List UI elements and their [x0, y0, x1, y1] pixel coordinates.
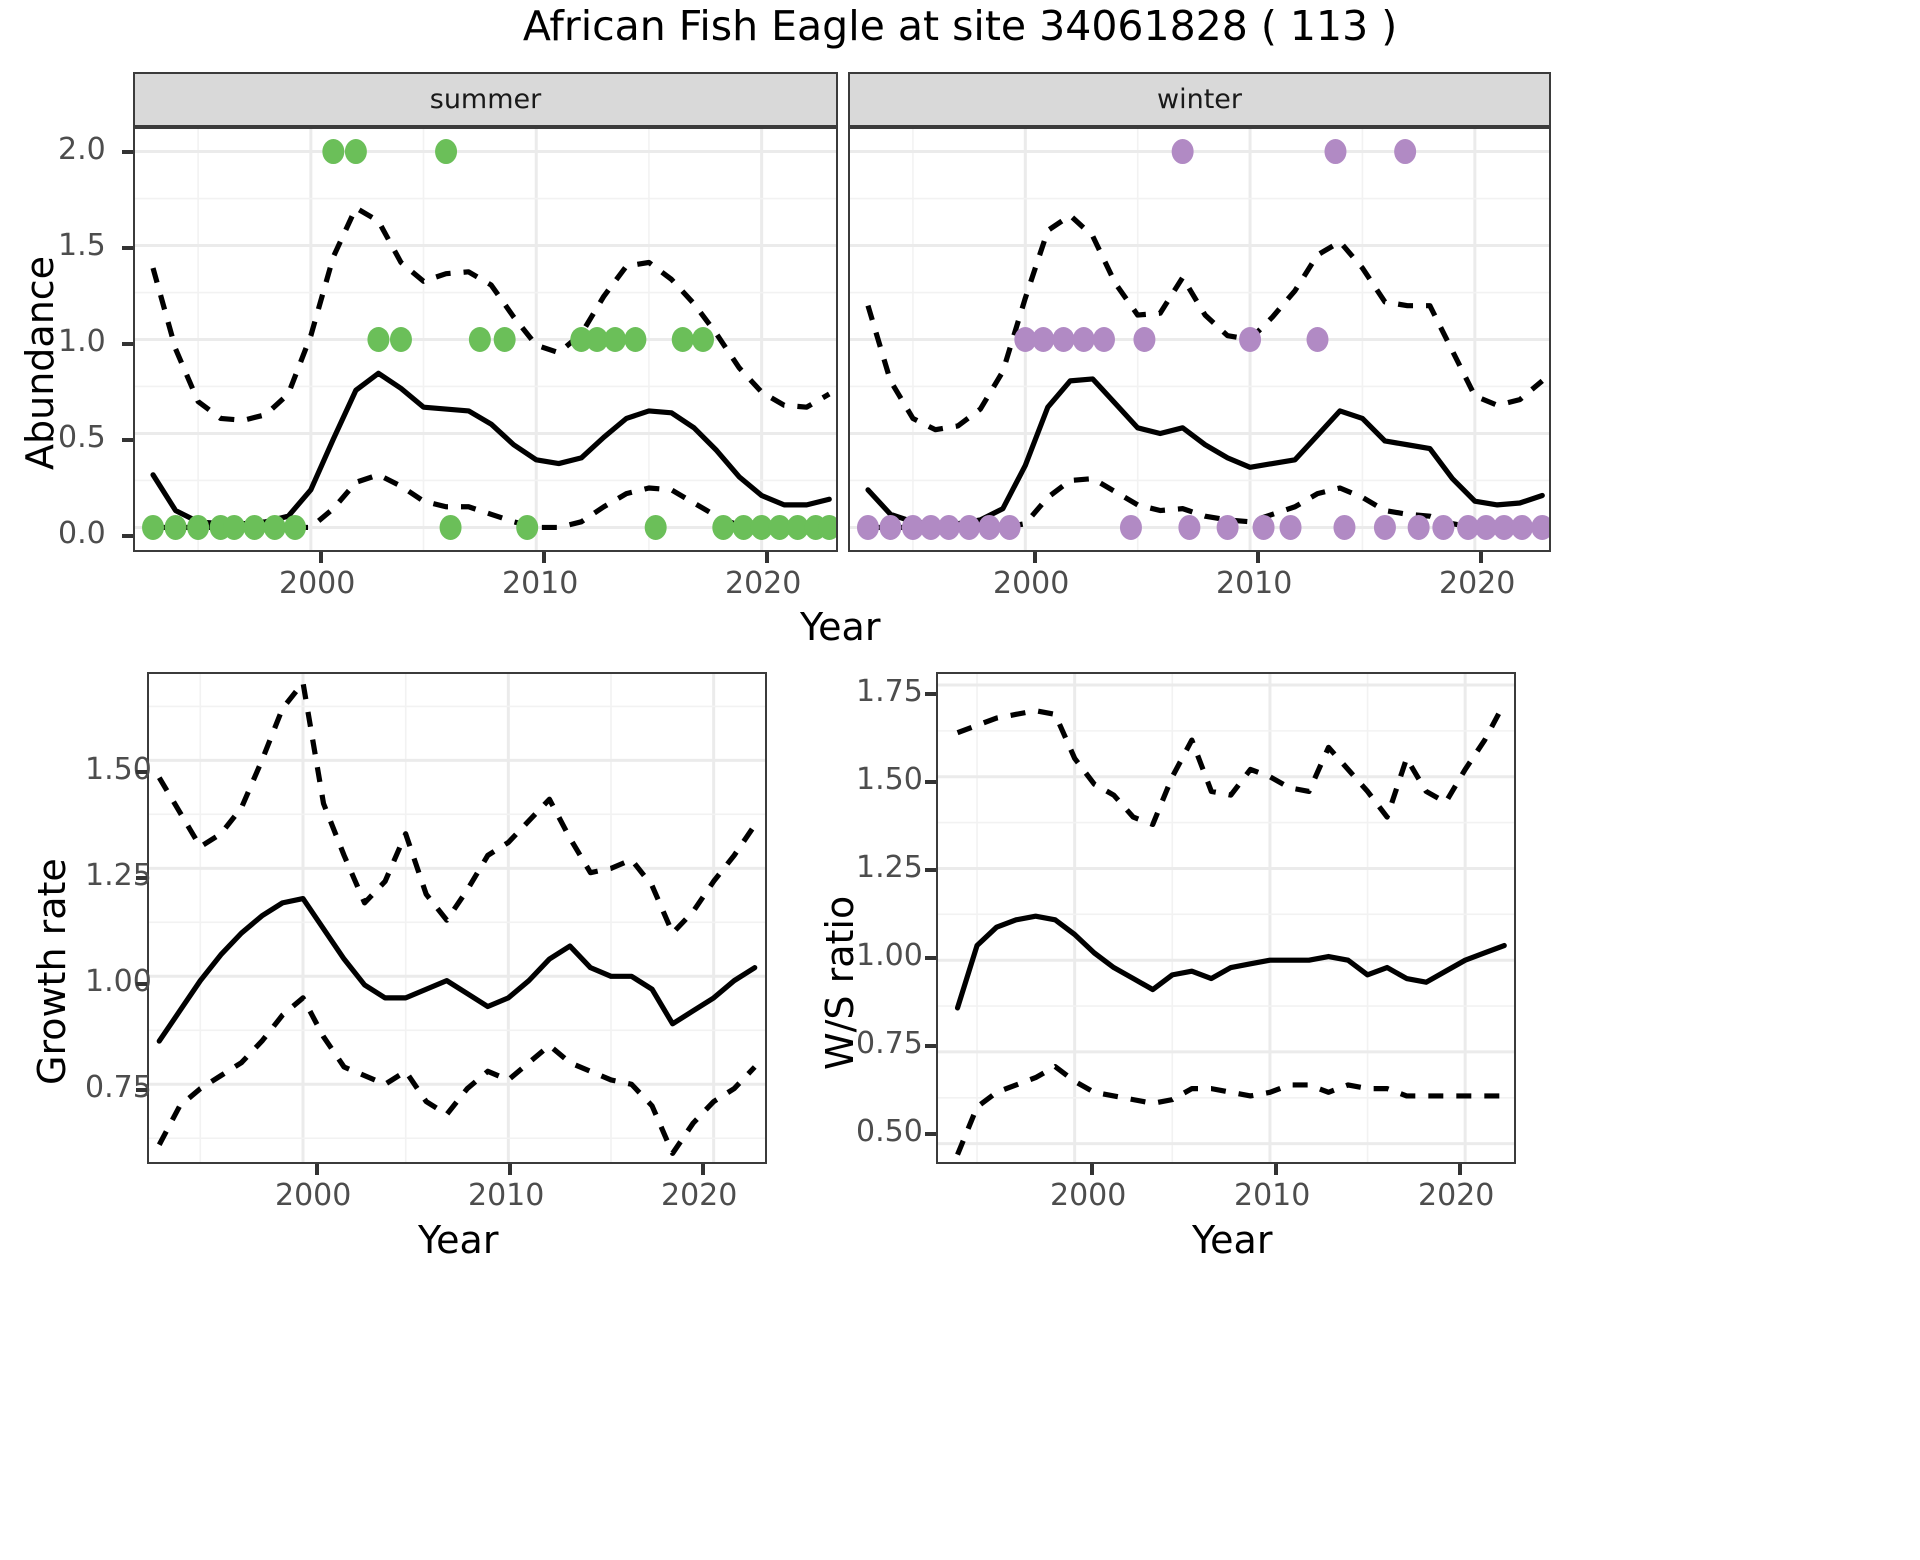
xtick-ws-2020: 2020	[1418, 1178, 1494, 1213]
data-point	[1073, 327, 1095, 352]
xtick-mark-summer-2010	[542, 552, 546, 563]
data-point	[645, 515, 667, 540]
xtick-mark-ws-2000	[1090, 1164, 1094, 1175]
data-point	[1394, 139, 1416, 164]
xtick-mark-winter-2020	[1479, 552, 1483, 563]
ytick-mark-growth-150	[136, 770, 147, 774]
ytick-mark-ws-075	[925, 1044, 936, 1048]
data-point	[1178, 515, 1200, 540]
data-point	[1432, 515, 1454, 540]
axis-label-year-bottom-right: Year	[1192, 1218, 1272, 1262]
figure-root: African Fish Eagle at site 34061828 ( 11…	[0, 0, 1920, 1560]
data-point	[435, 139, 457, 164]
data-point	[516, 515, 538, 540]
ytick-mark-abundance-15	[122, 246, 133, 250]
xtick-winter-2010: 2010	[1216, 566, 1292, 601]
ytick-mark-abundance-2	[122, 150, 133, 154]
ytick-abundance-1: 1.0	[58, 324, 106, 359]
ytick-mark-growth-100	[136, 982, 147, 986]
ytick-ws-175: 1.75	[856, 674, 923, 709]
facet-strip-summer: summer	[133, 72, 838, 127]
data-point	[165, 515, 187, 540]
data-point	[1253, 515, 1275, 540]
series-line-fitted	[153, 373, 829, 523]
data-point	[1053, 327, 1075, 352]
data-point	[469, 327, 491, 352]
data-point	[322, 139, 344, 164]
data-point	[1217, 515, 1239, 540]
xtick-winter-2000: 2000	[993, 566, 1069, 601]
axis-label-growth-rate: Growth rate	[30, 858, 74, 1085]
data-point	[604, 327, 626, 352]
xtick-summer-2020: 2020	[725, 566, 801, 601]
data-point	[345, 139, 367, 164]
xtick-ws-2000: 2000	[1050, 1178, 1126, 1213]
xtick-mark-growth-2010	[508, 1164, 512, 1175]
ytick-abundance-2: 2.0	[58, 132, 106, 167]
data-point	[1511, 515, 1533, 540]
xtick-mark-growth-2000	[315, 1164, 319, 1175]
xtick-growth-2010: 2010	[468, 1178, 544, 1213]
data-point	[879, 515, 901, 540]
series-line-lower-ci	[958, 1067, 1505, 1155]
data-point	[857, 515, 879, 540]
axis-label-abundance: Abundance	[18, 256, 62, 470]
plot-abundance-winter	[850, 129, 1549, 550]
data-point	[1374, 515, 1396, 540]
ytick-ws-150: 1.50	[856, 762, 923, 797]
ytick-ws-100: 1.00	[856, 938, 923, 973]
facet-strip-winter-label: winter	[1157, 84, 1242, 115]
data-point	[1531, 515, 1551, 540]
facet-strip-summer-label: summer	[430, 84, 542, 115]
data-point	[672, 327, 694, 352]
ytick-abundance-15: 1.5	[58, 228, 106, 263]
data-point	[223, 515, 245, 540]
xtick-ws-2010: 2010	[1234, 1178, 1310, 1213]
data-point	[1093, 327, 1115, 352]
panel-growth-rate	[147, 672, 767, 1164]
ytick-ws-050: 0.50	[856, 1114, 923, 1149]
panel-abundance-winter	[848, 127, 1551, 552]
xtick-mark-summer-2000	[319, 552, 323, 563]
ytick-mark-ws-150	[925, 780, 936, 784]
series-line-fitted	[958, 916, 1505, 1008]
axis-label-year-top: Year	[800, 605, 880, 649]
xtick-mark-ws-2010	[1274, 1164, 1278, 1175]
ytick-abundance-0: 0.0	[58, 516, 106, 551]
data-point	[367, 327, 389, 352]
axis-label-year-bottom-left: Year	[418, 1218, 498, 1262]
xtick-mark-ws-2020	[1458, 1164, 1462, 1175]
xtick-mark-growth-2020	[701, 1164, 705, 1175]
panel-abundance-summer	[133, 127, 838, 552]
facet-strip-winter: winter	[848, 72, 1551, 127]
ytick-abundance-05: 0.5	[58, 420, 106, 455]
data-point	[692, 327, 714, 352]
data-point	[1307, 327, 1329, 352]
ytick-ws-125: 1.25	[856, 850, 923, 885]
data-point	[264, 515, 286, 540]
plot-abundance-summer	[135, 129, 836, 550]
page-title: African Fish Eagle at site 34061828 ( 11…	[0, 2, 1920, 50]
data-point	[1280, 515, 1302, 540]
data-point	[494, 327, 516, 352]
series-line-fitted	[868, 379, 1542, 524]
xtick-mark-winter-2010	[1256, 552, 1260, 563]
data-point	[142, 515, 164, 540]
xtick-growth-2020: 2020	[661, 1178, 737, 1213]
data-point	[1324, 139, 1346, 164]
series-line-upper-ci	[159, 683, 754, 933]
panel-ws-ratio	[936, 672, 1516, 1164]
plot-growth-rate	[149, 674, 765, 1162]
data-point	[440, 515, 462, 540]
series-line-upper-ci	[958, 703, 1505, 824]
data-point	[1120, 515, 1142, 540]
ytick-mark-growth-125	[136, 876, 147, 880]
data-point	[1239, 327, 1261, 352]
series-line-upper-ci	[868, 215, 1542, 429]
xtick-growth-2000: 2000	[275, 1178, 351, 1213]
ytick-mark-ws-050	[925, 1132, 936, 1136]
xtick-summer-2010: 2010	[502, 566, 578, 601]
data-point	[1133, 327, 1155, 352]
data-point	[1032, 327, 1054, 352]
data-point	[712, 515, 734, 540]
data-point	[243, 515, 265, 540]
ytick-mark-ws-175	[925, 692, 936, 696]
data-point	[1408, 515, 1430, 540]
xtick-summer-2000: 2000	[279, 566, 355, 601]
series-line-lower-ci	[159, 998, 754, 1153]
data-point	[938, 515, 960, 540]
series-line-upper-ci	[153, 208, 829, 420]
data-point	[999, 515, 1021, 540]
data-point	[284, 515, 306, 540]
ytick-mark-abundance-0	[122, 534, 133, 538]
data-point	[624, 327, 646, 352]
ytick-ws-075: 0.75	[856, 1026, 923, 1061]
data-point	[958, 515, 980, 540]
data-point	[1172, 139, 1194, 164]
ytick-mark-abundance-05	[122, 438, 133, 442]
plot-ws-ratio	[938, 674, 1514, 1162]
xtick-mark-summer-2020	[765, 552, 769, 563]
ytick-mark-abundance-1	[122, 342, 133, 346]
data-point	[978, 515, 1000, 540]
data-point	[187, 515, 209, 540]
data-point	[390, 327, 412, 352]
xtick-mark-winter-2000	[1033, 552, 1037, 563]
ytick-mark-ws-125	[925, 868, 936, 872]
ytick-mark-growth-075	[136, 1088, 147, 1092]
ytick-mark-ws-100	[925, 956, 936, 960]
data-point	[1333, 515, 1355, 540]
xtick-winter-2020: 2020	[1439, 566, 1515, 601]
